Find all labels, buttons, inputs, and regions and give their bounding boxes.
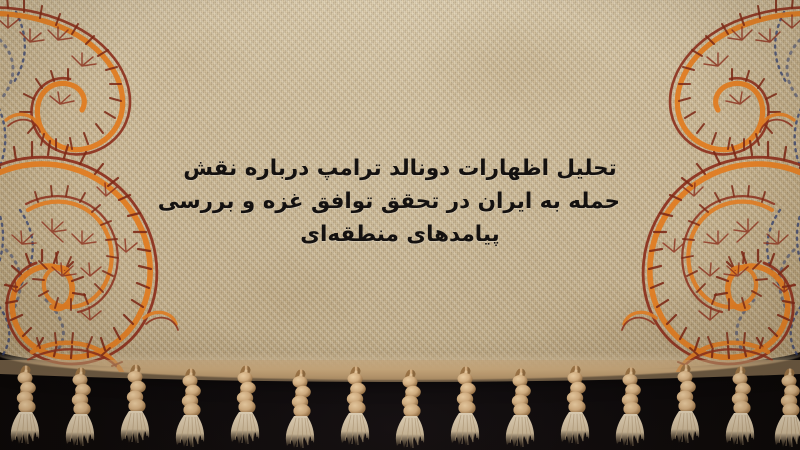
headline-line-1: تحلیل اظهارات دونالد ترامپ درباره نقش — [180, 152, 620, 185]
tassel-row — [11, 369, 800, 449]
headline-line-3: پیامدهای منطقه‌ای — [180, 218, 620, 251]
headline-line-2: حمله به ایران در تحقق توافق غزه و بررسی — [180, 185, 620, 218]
knotted-tassel-fringe — [0, 360, 800, 450]
textile-headline-banner: تحلیل اظهارات دونالد ترامپ درباره نقش حم… — [0, 0, 800, 450]
headline-text-block: تحلیل اظهارات دونالد ترامپ درباره نقش حم… — [180, 152, 620, 251]
